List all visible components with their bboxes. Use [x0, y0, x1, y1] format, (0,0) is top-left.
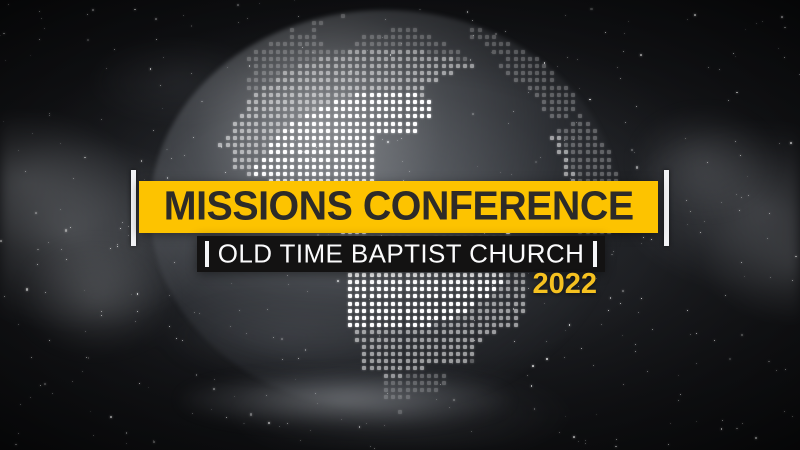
title-lockup: MISSIONS CONFERENCE OLD TIME BAPTIST CHU…: [0, 0, 800, 450]
subtitle-text: OLD TIME BAPTIST CHURCH: [197, 240, 605, 266]
title-banner: MISSIONS CONFERENCE: [139, 181, 658, 233]
subtitle-banner: OLD TIME BAPTIST CHURCH: [197, 236, 605, 272]
accent-tick-right-icon: [664, 170, 669, 246]
year-label: 2022: [0, 270, 597, 299]
page-title-text: MISSIONS CONFERENCE: [164, 186, 634, 227]
accent-tick-left-icon: [131, 170, 136, 246]
page-title: MISSIONS CONFERENCE: [139, 186, 658, 227]
title-card-scene: MISSIONS CONFERENCE OLD TIME BAPTIST CHU…: [0, 0, 800, 450]
